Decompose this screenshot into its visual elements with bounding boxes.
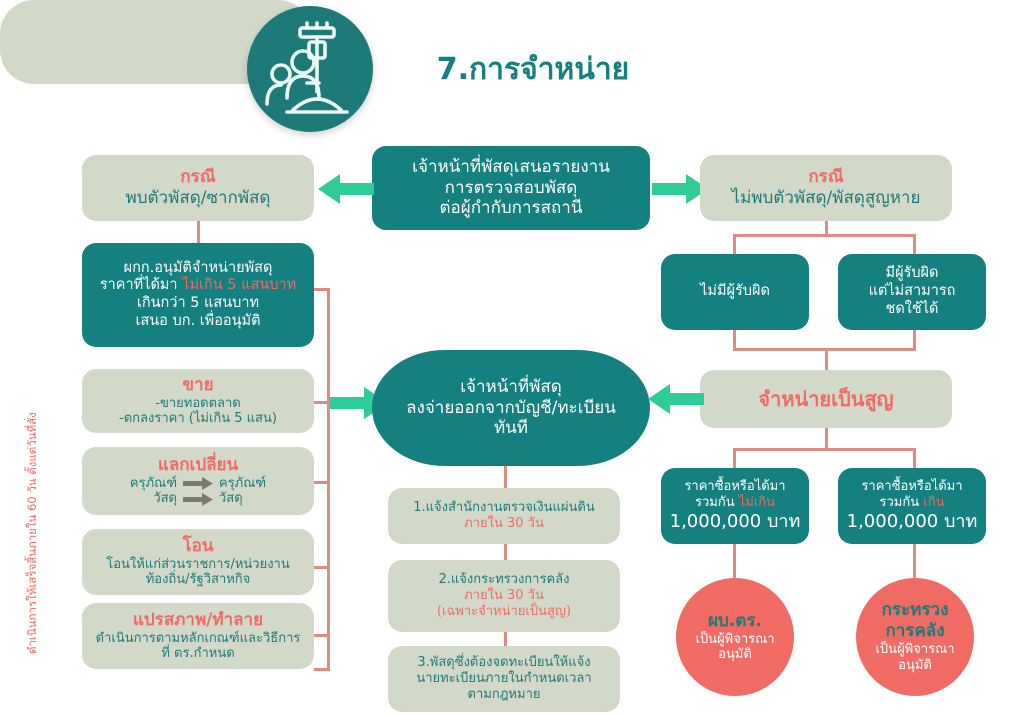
connector-amount-split <box>733 448 916 451</box>
method-sell-line-1: -ขายทอดตลาด <box>155 396 240 412</box>
amount-a-line-1: ราคาซื้อหรือได้มา <box>684 479 785 495</box>
connector-right-drop-a <box>733 234 736 254</box>
approval-line-3: เกินกว่า 5 แสนบาท <box>137 295 259 313</box>
authority-b-line-1: เป็นผู้พิจารณา <box>875 642 954 658</box>
center-record-oval: เจ้าหน้าที่พัสดุ ลงจ่ายออกจากบัญชี/ทะเบี… <box>372 350 650 466</box>
amount-a-line-2-prefix: รวมกัน <box>695 495 739 510</box>
flowchart-canvas: 7.การจำหน่าย <box>0 0 1009 714</box>
authority-circle-ministry: กระทรวง การคลัง เป็นผู้พิจารณา อนุมัติ <box>856 578 974 696</box>
green-arrow-result-left-icon <box>648 382 704 420</box>
authority-a-line-2: อนุมัติ <box>718 647 752 663</box>
method-exchange-row-1: ครุภัณฑ์ ครุภัณฑ์ <box>130 476 266 492</box>
method-transfer-line-1: โอนให้แก่ส่วนราชการ/หน่วยงาน <box>106 557 290 573</box>
case-not-found-box: กรณี ไม่พบตัวพัสดุ/พัสดุสูญหาย <box>700 155 952 221</box>
method-box-destroy: แปรสภาพ/ทำลาย ดำเนินการตามหลักเกณฑ์และวิ… <box>82 603 314 669</box>
top-center-line-3: ต่อผู้กำกับการสถานี <box>440 198 583 219</box>
case-not-found-line-1: ไม่พบตัวพัสดุ/พัสดุสูญหาย <box>732 188 921 209</box>
auction-officer-icon <box>247 6 373 132</box>
step-1-red-1: ภายใน 30 วัน <box>464 516 544 532</box>
step-2-red-2: (เฉพาะจำหน่ายเป็นสูญ) <box>437 604 571 620</box>
step-box-3: 3.พัสดุซึ่งต้องจดทะเบียนให้แจ้ง นายทะเบี… <box>388 646 620 712</box>
center-oval-line-3: ทันที <box>494 418 528 439</box>
approval-line-2: ราคาที่ได้มา ไม่เกิน 5 แสนบาท <box>100 277 296 295</box>
method-exchange-row-2: วัสดุ วัสดุ <box>153 491 242 507</box>
side-duration-note: ดำเนินการให้เสร็จสิ้นภายใน 60 วัน ตั้งแต… <box>24 424 42 654</box>
step-3-line-2: นายทะเบียนภายในกำหนดเวลา <box>416 671 591 687</box>
approval-line-1: ผกก.อนุมัติจำหน่ายพัสดุ <box>124 260 273 278</box>
connector-authority-a <box>733 544 736 578</box>
authority-a-title: ผบ.ตร. <box>708 611 762 632</box>
method-transfer-line-2: ท้องถิ่น/รัฐวิสาหกิจ <box>146 572 251 588</box>
method-sell-line-2: -ตกลงราคา (ไม่เกิน 5 แสน) <box>119 411 277 427</box>
step-1-line-1: 1.แจ้งสำนักงานตรวจเงินแผ่นดิน <box>413 500 595 516</box>
swap-arrow-icon <box>183 477 213 490</box>
method-destroy-title: แปรสภาพ/ทำลาย <box>133 610 263 631</box>
case-found-box: กรณี พบตัวพัสดุ/ซากพัสดุ <box>82 155 314 221</box>
method-box-transfer: โอน โอนให้แก่ส่วนราชการ/หน่วยงาน ท้องถิ่… <box>82 529 314 595</box>
approval-line-2-highlight: ไม่เกิน 5 แสนบาท <box>182 277 296 293</box>
connector-center-3 <box>504 632 507 646</box>
connector-right-split <box>733 234 916 237</box>
green-arrow-left-icon <box>318 172 374 210</box>
connector-right-drop-b <box>913 234 916 254</box>
liability-exists-line-2: แต่ไม่สามารถ <box>869 283 956 301</box>
amount-a-line-3: 1,000,000 บาท <box>670 511 801 533</box>
amount-b-line-2-prefix: รวมกัน <box>880 495 924 510</box>
method-destroy-line-1: ดำเนินการตามหลักเกณฑ์และวิธีการ <box>96 631 301 647</box>
amount-b-line-2: รวมกัน เกิน <box>880 495 945 511</box>
authority-b-title-1: กระทรวง <box>882 600 949 621</box>
method-sell-title: ขาย <box>182 375 213 396</box>
method-box-exchange: แลกเปลี่ยน ครุภัณฑ์ ครุภัณฑ์ วัสดุ วัสดุ <box>82 447 314 515</box>
connector-right-stub <box>825 221 828 235</box>
exchange-from-2: วัสดุ <box>153 491 177 507</box>
amount-a-line-2-highlight: ไม่เกิน <box>739 495 775 510</box>
write-off-result-box: จำหน่ายเป็นสูญ <box>700 370 952 428</box>
swap-arrow-icon-2 <box>183 493 213 506</box>
case-found-title: กรณี <box>180 167 215 188</box>
liability-none-box: ไม่มีผู้รับผิด <box>661 254 809 330</box>
amount-b-line-3: 1,000,000 บาท <box>847 511 978 533</box>
case-not-found-title: กรณี <box>808 167 843 188</box>
center-oval-line-2: ลงจ่ายออกจากบัญชี/ทะเบียน <box>406 398 616 419</box>
amount-box-over-limit: ราคาซื้อหรือได้มา รวมกัน เกิน 1,000,000 … <box>838 468 986 544</box>
page-title: 7.การจำหน่าย <box>398 46 668 93</box>
authority-circle-commissioner: ผบ.ตร. เป็นผู้พิจารณา อนุมัติ <box>676 578 794 696</box>
center-oval-line-1: เจ้าหน้าที่พัสดุ <box>460 377 562 398</box>
connector-center-2 <box>504 544 507 560</box>
liability-exists-line-3: ชดใช้ได้ <box>886 301 939 319</box>
liability-none-line-1: ไม่มีผู้รับผิด <box>700 283 770 301</box>
approval-line-2-prefix: ราคาที่ได้มา <box>100 277 182 293</box>
authority-b-title-2: การคลัง <box>885 621 944 642</box>
connector-result-down <box>825 428 828 450</box>
connector-merge-a <box>733 330 736 350</box>
exchange-from-1: ครุภัณฑ์ <box>130 476 177 492</box>
amount-a-line-2: รวมกัน ไม่เกิน <box>695 495 775 511</box>
authority-b-line-2: อนุมัติ <box>898 658 932 674</box>
amount-b-line-1: ราคาซื้อหรือได้มา <box>861 479 962 495</box>
method-destroy-line-2: ที่ ตร.กำหนด <box>161 646 234 662</box>
top-center-line-2: การตรวจสอบพัสดุ <box>445 178 578 199</box>
connector-center-1 <box>504 466 507 488</box>
top-center-line-1: เจ้าหน้าที่พัสดุเสนอรายงาน <box>412 157 610 178</box>
connector-left-stub <box>197 221 200 243</box>
step-box-1: 1.แจ้งสำนักงานตรวจเงินแผ่นดิน ภายใน 30 ว… <box>388 488 620 544</box>
approval-line-4: เสนอ บก. เพื่ออนุมัติ <box>135 313 260 331</box>
method-box-sell: ขาย -ขายทอดตลาด -ตกลงราคา (ไม่เกิน 5 แสน… <box>82 369 314 433</box>
step-3-line-3: ตามกฎหมาย <box>468 687 541 703</box>
amount-box-under-limit: ราคาซื้อหรือได้มา รวมกัน ไม่เกิน 1,000,0… <box>661 468 809 544</box>
method-transfer-title: โอน <box>183 536 214 557</box>
case-found-line-1: พบตัวพัสดุ/ซากพัสดุ <box>126 188 271 209</box>
step-3-line-1: 3.พัสดุซึ่งต้องจดทะเบียนให้แจ้ง <box>417 655 590 671</box>
top-center-report-box: เจ้าหน้าที่พัสดุเสนอรายงาน การตรวจสอบพัส… <box>372 146 650 230</box>
connector-merge-b <box>913 330 916 350</box>
liability-exists-line-1: มีผู้รับผิด <box>886 265 939 283</box>
exchange-to-2: วัสดุ <box>219 491 243 507</box>
connector-merge-down <box>825 348 828 370</box>
step-box-2: 2.แจ้งกระทรวงการคลัง ภายใน 30 วัน (เฉพาะ… <box>388 560 620 632</box>
connector-authority-b <box>913 544 916 578</box>
exchange-to-1: ครุภัณฑ์ <box>219 476 266 492</box>
write-off-title: จำหน่ายเป็นสูญ <box>758 387 893 411</box>
liability-exists-box: มีผู้รับผิด แต่ไม่สามารถ ชดใช้ได้ <box>838 254 986 330</box>
authority-a-line-1: เป็นผู้พิจารณา <box>695 632 774 648</box>
connector-rail-stub-bottom <box>314 668 330 671</box>
amount-b-line-2-highlight: เกิน <box>923 495 944 510</box>
step-2-line-1: 2.แจ้งกระทรวงการคลัง <box>439 572 570 588</box>
method-exchange-title: แลกเปลี่ยน <box>158 455 238 476</box>
step-2-red-1: ภายใน 30 วัน <box>464 588 544 604</box>
connector-amount-drop-a <box>733 448 736 468</box>
connector-rail-stub-approval <box>314 288 330 291</box>
connector-amount-drop-b <box>913 448 916 468</box>
connector-left-rail <box>327 288 330 670</box>
approval-box: ผกก.อนุมัติจำหน่ายพัสดุ ราคาที่ได้มา ไม่… <box>82 243 314 347</box>
